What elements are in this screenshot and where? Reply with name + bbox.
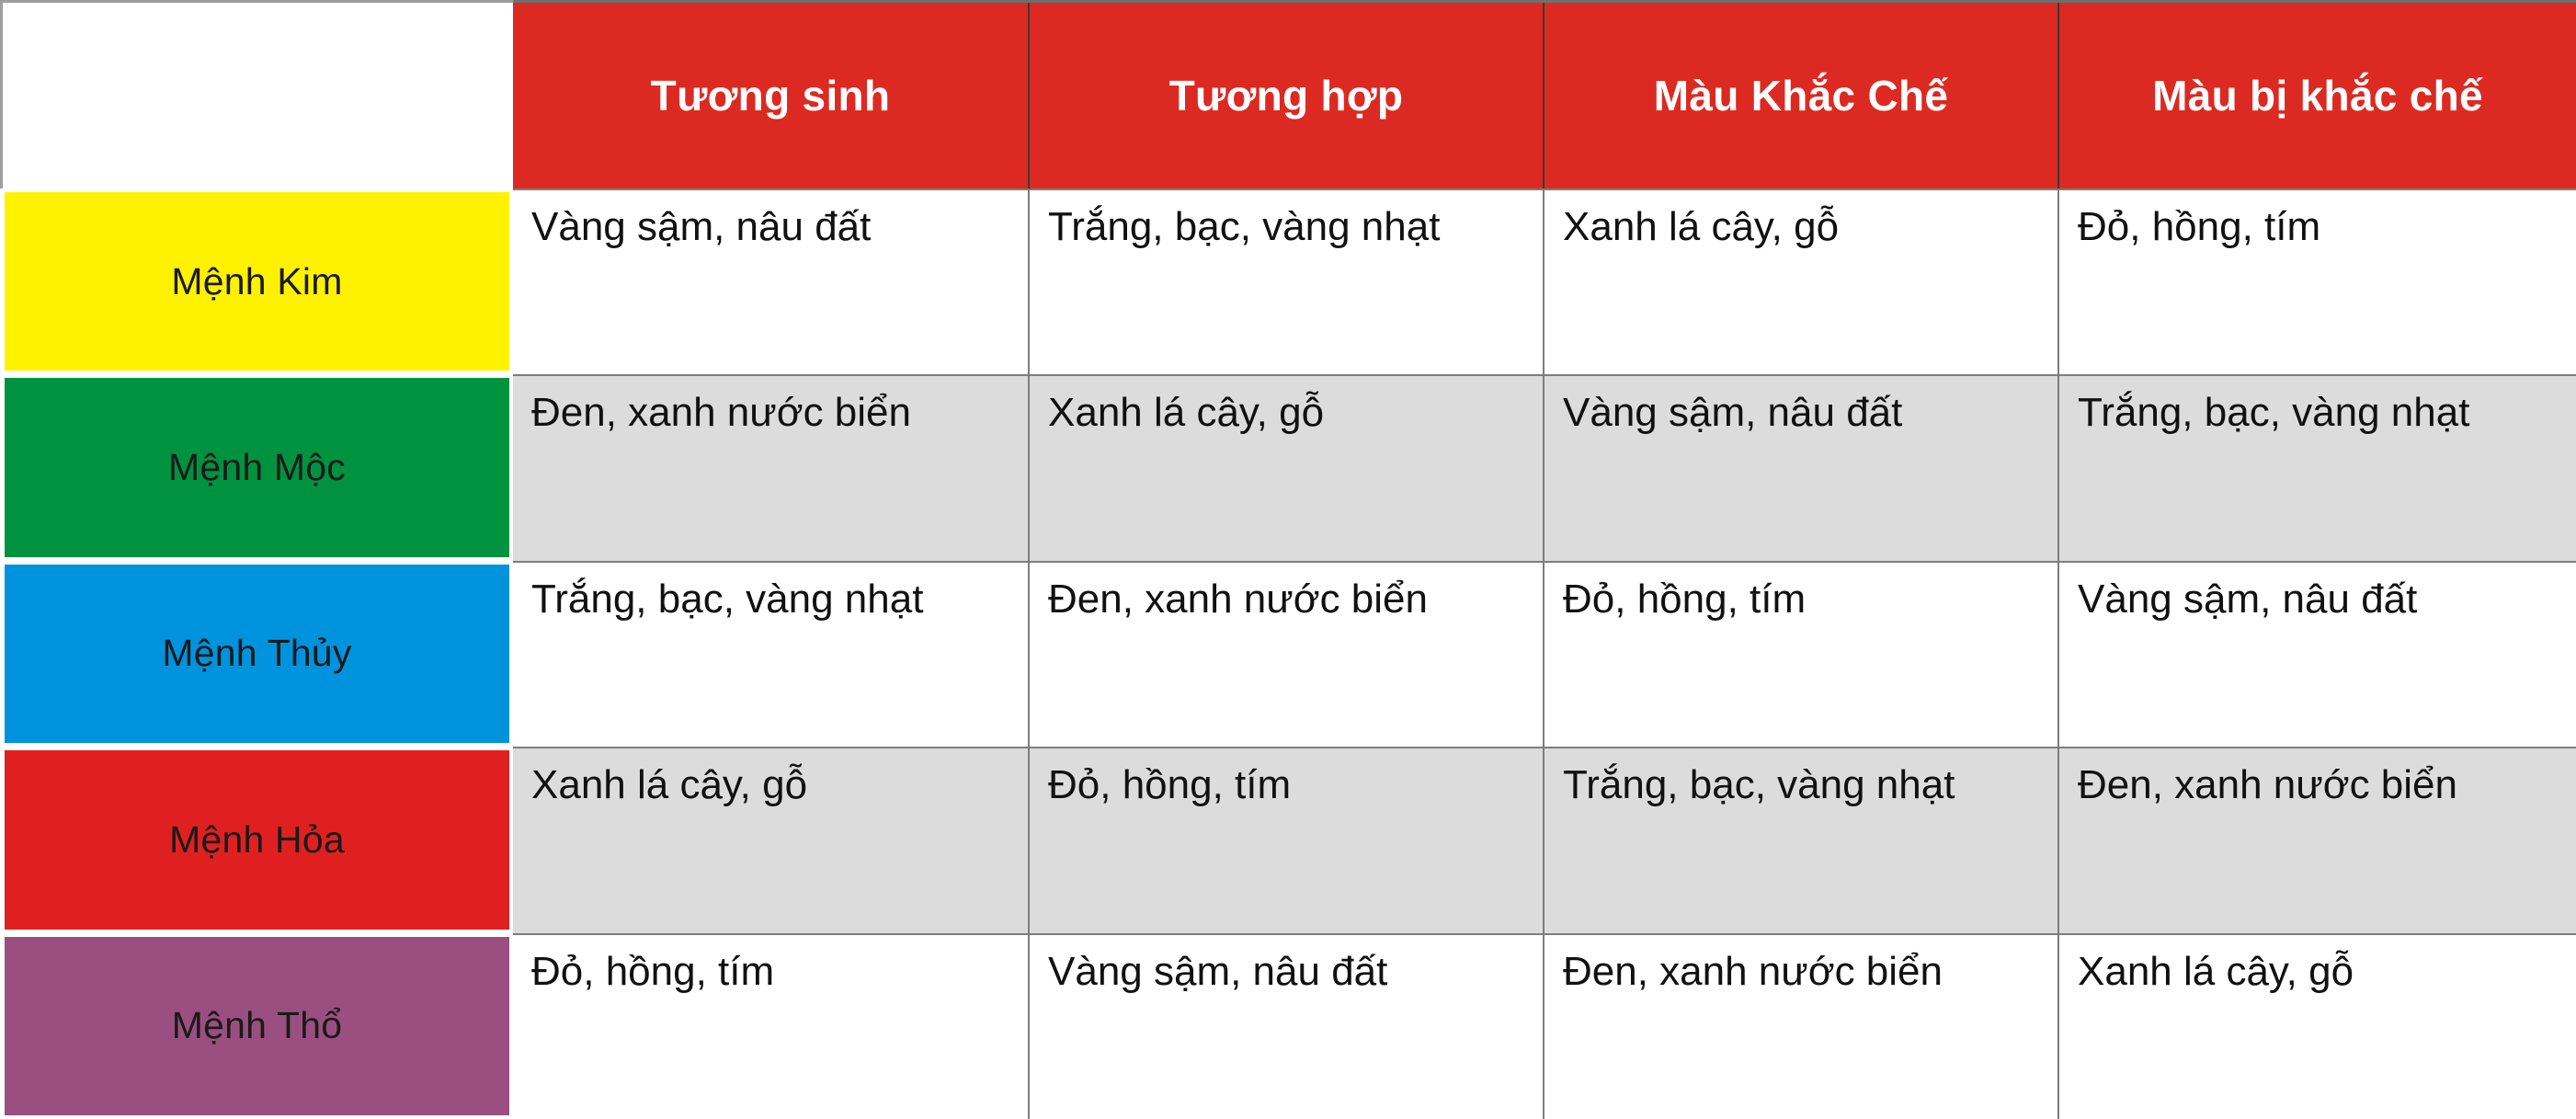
table-cell: Trắng, bạc, vàng nhạt xyxy=(1544,747,2059,932)
row-label-cell: Mệnh Hỏa xyxy=(0,747,513,932)
row-label-cell: Mệnh Mộc xyxy=(0,374,513,560)
table-cell: Vàng sậm, nâu đất xyxy=(2059,561,2576,747)
table-cell: Đen, xanh nước biển xyxy=(1544,933,2059,1119)
row-label-cell: Mệnh Thủy xyxy=(0,561,513,747)
table-cell: Đỏ, hồng, tím xyxy=(2059,188,2576,374)
table-cell: Xanh lá cây, gỗ xyxy=(2059,933,2576,1119)
table-cell: Xanh lá cây, gỗ xyxy=(1030,374,1544,560)
five-elements-color-table: Mệnh Kim Mệnh Mộc Mệnh Thủy Mệnh Hỏa Mện… xyxy=(0,0,2576,1119)
row-label-cell: Mệnh Kim xyxy=(0,188,513,374)
table-cell: Đen, xanh nước biển xyxy=(2059,747,2576,932)
table-header-row: Tương sinh Tương hợp Màu Khắc Chế Màu bị… xyxy=(513,3,2576,188)
table-row: Đen, xanh nước biển Xanh lá cây, gỗ Vàng… xyxy=(513,374,2576,560)
table-row: Xanh lá cây, gỗ Đỏ, hồng, tím Trắng, bạc… xyxy=(513,747,2576,932)
swatch-menh-thuy: Mệnh Thủy xyxy=(5,565,509,743)
table-corner-cell xyxy=(0,0,513,188)
row-label-text: Mệnh Hỏa xyxy=(169,819,345,861)
table-row: Trắng, bạc, vàng nhạt Đen, xanh nước biể… xyxy=(513,561,2576,747)
table-cell: Vàng sậm, nâu đất xyxy=(513,188,1030,374)
table-cell: Đỏ, hồng, tím xyxy=(1030,747,1544,932)
row-label-cell: Mệnh Thổ xyxy=(0,933,513,1119)
table-cell: Đỏ, hồng, tím xyxy=(1544,561,2059,747)
table-cell: Xanh lá cây, gỗ xyxy=(1544,188,2059,374)
swatch-menh-hoa: Mệnh Hỏa xyxy=(5,750,509,929)
row-label-text: Mệnh Kim xyxy=(171,261,342,303)
data-grid: Tương sinh Tương hợp Màu Khắc Chế Màu bị… xyxy=(513,0,2576,1119)
table-cell: Trắng, bạc, vàng nhạt xyxy=(1030,188,1544,374)
swatch-menh-kim: Mệnh Kim xyxy=(5,192,509,371)
element-label-column: Mệnh Kim Mệnh Mộc Mệnh Thủy Mệnh Hỏa Mện… xyxy=(0,0,513,1119)
table-cell: Xanh lá cây, gỗ xyxy=(513,747,1030,932)
table-cell: Trắng, bạc, vàng nhạt xyxy=(2059,374,2576,560)
table-cell: Đỏ, hồng, tím xyxy=(513,933,1030,1119)
table-cell: Vàng sậm, nâu đất xyxy=(1030,933,1544,1119)
table-cell: Trắng, bạc, vàng nhạt xyxy=(513,561,1030,747)
row-label-text: Mệnh Mộc xyxy=(168,447,346,488)
table-cell: Vàng sậm, nâu đất xyxy=(1544,374,2059,560)
column-header-mau-bi-khac-che: Màu bị khắc chế xyxy=(2059,3,2576,188)
swatch-menh-tho: Mệnh Thổ xyxy=(5,937,509,1115)
table-cell: Đen, xanh nước biển xyxy=(1030,561,1544,747)
row-label-text: Mệnh Thổ xyxy=(172,1005,342,1046)
table-cell: Đen, xanh nước biển xyxy=(513,374,1030,560)
table-row: Vàng sậm, nâu đất Trắng, bạc, vàng nhạt … xyxy=(513,188,2576,374)
column-header-mau-khac-che: Màu Khắc Chế xyxy=(1544,3,2059,188)
table-row: Đỏ, hồng, tím Vàng sậm, nâu đất Đen, xan… xyxy=(513,933,2576,1119)
row-label-text: Mệnh Thủy xyxy=(162,633,351,674)
column-header-tuong-sinh: Tương sinh xyxy=(513,3,1030,188)
swatch-menh-moc: Mệnh Mộc xyxy=(5,378,509,556)
column-header-tuong-hop: Tương hợp xyxy=(1030,3,1544,188)
